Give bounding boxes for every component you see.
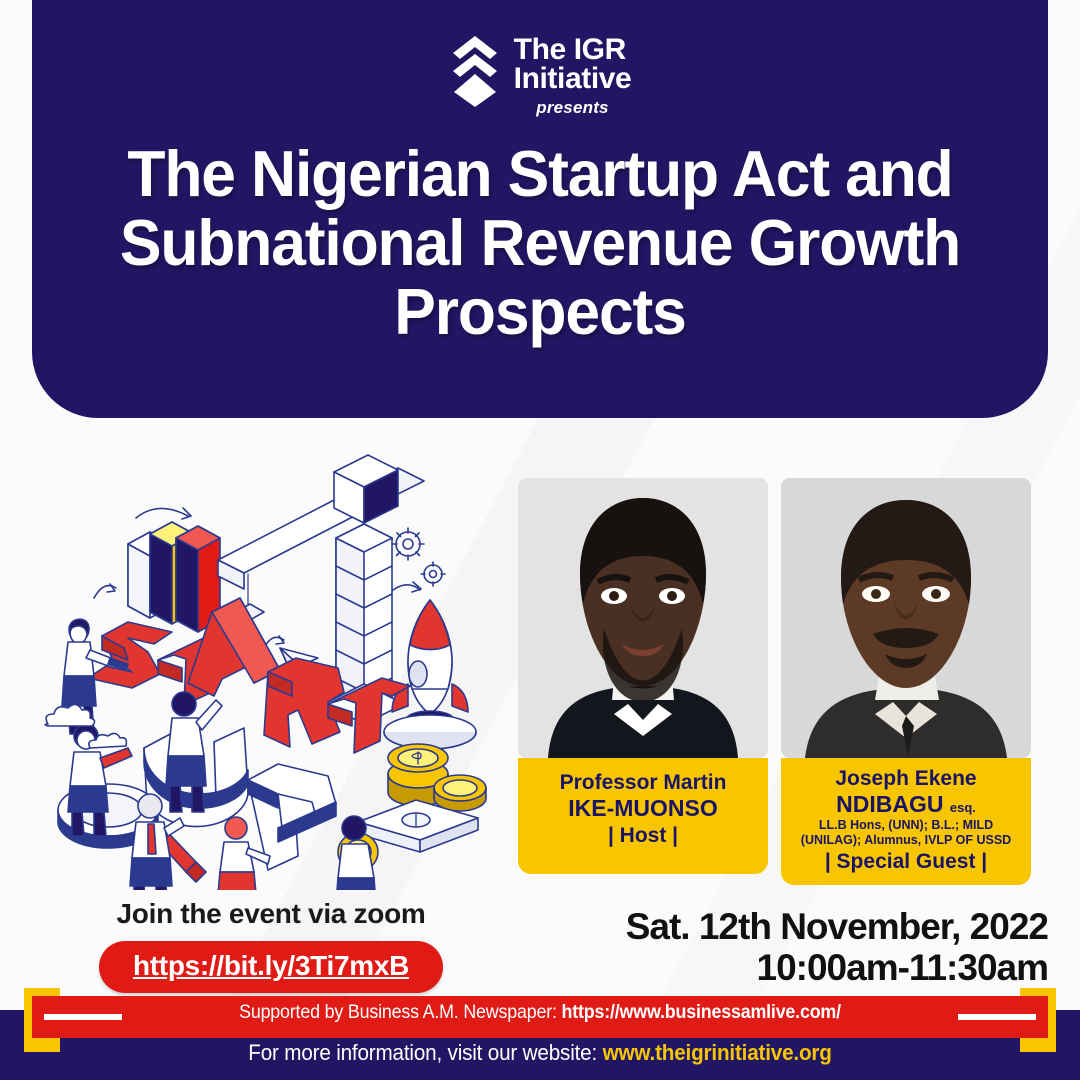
startup-isometric-illustration [36,448,516,890]
speaker-credentials: LL.B Hons, (UNN); B.L.; MILD (UNILAG); A… [787,818,1025,847]
speaker-role: | Special Guest | [787,849,1025,874]
brand-lockup: The IGR Initiative presents [32,34,1048,118]
speaker-name-line2: IKE-MUONSO [524,795,762,821]
speaker-portrait [781,478,1031,758]
igr-chevron-diamond-logo-icon [449,34,501,108]
speaker-portrait [518,478,768,758]
speakers-row: Professor Martin IKE-MUONSO | Host | [518,478,1032,866]
speaker-name-line2: NDIBAGU esq. [787,791,1025,817]
event-datetime: Sat. 12th November, 2022 10:00am-11:30am [528,906,1048,990]
page-title: The Nigerian Startup Act and Subnational… [93,140,988,347]
speaker-role: | Host | [524,823,762,848]
header-panel: The IGR Initiative presents The Nigerian… [32,0,1048,418]
event-date: Sat. 12th November, 2022 [528,906,1048,947]
speaker-surname: NDIBAGU [836,791,943,817]
brand-line-2: Initiative [514,64,632,93]
join-block: Join the event via zoom https://bit.ly/3… [36,898,506,993]
brand-presents: presents [514,98,632,118]
website-url[interactable]: www.theigrinitiative.org [603,1040,832,1065]
more-info-label: For more information, visit our website: [248,1040,602,1065]
supported-by-text: Supported by Business A.M. Newspaper: ht… [32,1002,1047,1024]
supported-by-url[interactable]: https://www.businessamlive.com/ [562,1002,841,1023]
speaker-name-line1: Professor Martin [524,771,762,795]
speaker-card-special-guest: Joseph Ekene NDIBAGU esq. LL.B Hons, (UN… [781,478,1031,866]
speaker-nameplate: Professor Martin IKE-MUONSO | Host | [518,758,768,874]
speaker-card-host: Professor Martin IKE-MUONSO | Host | [518,478,768,866]
supported-by-label: Supported by Business A.M. Newspaper: [239,1002,561,1023]
brand-text: The IGR Initiative presents [514,34,632,118]
join-label: Join the event via zoom [36,898,506,930]
speaker-suffix: esq. [950,800,976,815]
more-info-text: For more information, visit our website:… [32,1040,1047,1066]
speaker-nameplate: Joseph Ekene NDIBAGU esq. LL.B Hons, (UN… [781,758,1031,885]
footer: Supported by Business A.M. Newspaper: ht… [0,988,1080,1080]
event-time: 10:00am-11:30am [528,947,1048,989]
speaker-name-line1: Joseph Ekene [787,767,1025,791]
zoom-link-button[interactable]: https://bit.ly/3Ti7mxB [99,941,443,993]
brand-line-1: The IGR [514,35,632,64]
